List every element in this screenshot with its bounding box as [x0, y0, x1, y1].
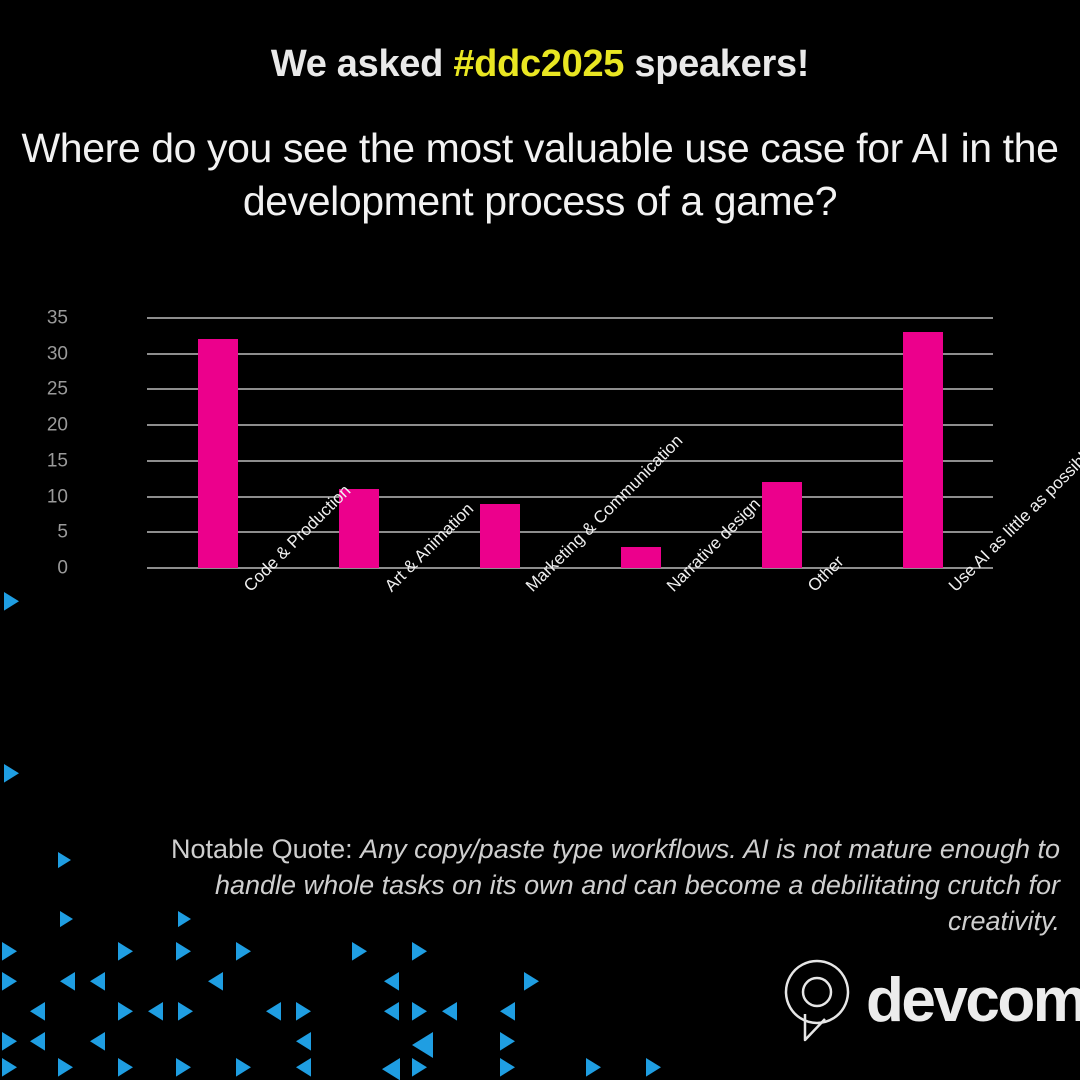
decor-triangle-right [178, 1002, 193, 1021]
decor-triangle-right [500, 1058, 515, 1077]
gridline [147, 424, 993, 426]
decor-triangle-left [90, 1032, 105, 1051]
hashtag-ddc2025: #ddc2025 [453, 43, 624, 85]
devcom-pin-icon [782, 958, 852, 1044]
y-axis-tick-label: 15 [8, 451, 68, 470]
x-axis-tick-label: Marketing & Communication [522, 582, 536, 596]
devcom-logo: devcom [782, 958, 1080, 1044]
decor-triangle-right [58, 1058, 73, 1077]
decor-triangle-left [384, 972, 399, 991]
x-axis-tick-label: Narrative design [663, 582, 677, 596]
x-axis-tick-label: Use AI as little as possible [945, 582, 959, 596]
y-axis-tick-label: 25 [8, 380, 68, 399]
notable-quote: Notable Quote: Any copy/paste type workf… [170, 832, 1060, 940]
decor-triangle-right [118, 1002, 133, 1021]
decor-triangle-right [58, 852, 71, 868]
decor-triangle-left [296, 1058, 311, 1077]
kicker-pre: We asked [271, 43, 453, 85]
decor-triangle-left [30, 1032, 45, 1051]
decor-triangle-right [524, 972, 539, 991]
gridline [147, 460, 993, 462]
decor-triangle-right [60, 911, 73, 927]
decor-triangle-right [586, 1058, 601, 1077]
decor-triangle-right [296, 1002, 311, 1021]
decor-triangle-left [90, 972, 105, 991]
gridline [147, 388, 993, 390]
page-title: Where do you see the most valuable use c… [0, 122, 1080, 229]
decor-triangle-right [500, 1032, 515, 1051]
decor-triangle-right [236, 1058, 251, 1077]
bar [480, 504, 520, 568]
decor-triangle-left [30, 1002, 45, 1021]
decor-triangle-right [2, 942, 17, 961]
y-axis-tick-label: 20 [8, 416, 68, 435]
decor-triangle-right [646, 1058, 661, 1077]
bar-chart: 05101520253035Code & ProductionArt & Ani… [0, 290, 1080, 820]
y-axis-tick-label: 5 [8, 523, 68, 542]
decor-triangle-right [412, 942, 427, 961]
decor-triangle-left [500, 1002, 515, 1021]
decor-triangle-left [296, 1032, 311, 1051]
decor-triangle-right [2, 1058, 17, 1077]
y-axis-tick-label: 10 [8, 487, 68, 506]
decor-triangle-right [176, 942, 191, 961]
bar [762, 482, 802, 568]
decor-triangle-right [352, 942, 367, 961]
gridline [147, 496, 993, 498]
x-axis-tick-label: Other [804, 582, 818, 596]
decor-triangle-right [176, 1058, 191, 1077]
bar [621, 547, 661, 568]
decor-triangle-left [148, 1002, 163, 1021]
bar [198, 339, 238, 568]
x-axis-tick-label: Art & Animation [381, 582, 395, 596]
decor-triangle-right [118, 942, 133, 961]
decor-triangle-right [118, 1058, 133, 1077]
gridline [147, 353, 993, 355]
decor-triangle-right [2, 972, 17, 991]
decor-triangle-left [60, 972, 75, 991]
decor-triangle-right [412, 1002, 427, 1021]
bar [903, 332, 943, 568]
devcom-wordmark: devcom [866, 970, 1080, 1032]
kicker-post: speakers! [624, 43, 809, 85]
decor-triangle-right [2, 1032, 17, 1051]
header: We asked #ddc2025 speakers! [0, 44, 1080, 86]
y-axis-tick-label: 0 [8, 559, 68, 578]
decor-triangle-left [382, 1058, 400, 1080]
kicker-line: We asked #ddc2025 speakers! [0, 44, 1080, 86]
y-axis-tick-label: 30 [8, 344, 68, 363]
decor-triangle-left [208, 972, 223, 991]
decor-triangle-left [442, 1002, 457, 1021]
decor-triangle-left [266, 1002, 281, 1021]
x-axis-tick-label: Code & Production [240, 582, 254, 596]
decor-triangle-left [384, 1002, 399, 1021]
decor-triangle-left [412, 1032, 433, 1058]
decor-triangle-right [236, 942, 251, 961]
gridline [147, 317, 993, 319]
quote-label: Notable Quote: [171, 834, 360, 864]
plot-area [147, 318, 993, 568]
decor-triangle-right [412, 1058, 427, 1077]
y-axis-tick-label: 35 [8, 309, 68, 328]
